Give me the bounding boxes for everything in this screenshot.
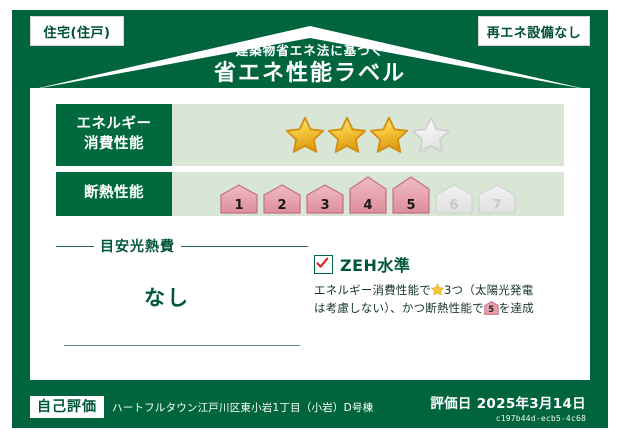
divider-left (56, 246, 94, 247)
row-insulation-value: 1234567 (172, 172, 564, 216)
insulation-level-number: 6 (435, 199, 473, 212)
insulation-level-number: 5 (392, 199, 430, 212)
insulation-level-2: 2 (263, 184, 301, 214)
divider-right (181, 246, 308, 247)
zeh-checkbox[interactable] (314, 255, 333, 274)
self-evaluation-badge: 自己評価 (30, 396, 104, 418)
zeh-desc-part3: は考慮しない）、かつ断熱性能で (314, 301, 484, 315)
zeh-desc-part1: エネルギー消費性能で (314, 283, 431, 297)
inline-house-number: 5 (484, 306, 499, 315)
zeh-header: ZEH水準 (314, 252, 564, 276)
utility-cost-header: 目安光熱費 (56, 236, 308, 256)
tag-building-type: 住宅(住戸) (30, 16, 124, 46)
evaluation-date: 評価日 2025年3月14日 (430, 396, 586, 412)
energy-performance-label: 住宅(住戸) 再エネ設備なし 建築物省エネ法に基づく 省エネ性能ラベル エネルギ… (0, 0, 620, 438)
insulation-level-number: 1 (220, 199, 258, 212)
evaluation-date-block: 評価日 2025年3月14日 c197b44d-ecb5-4c68 (430, 392, 590, 423)
performance-rows: エネルギー 消費性能 断熱性能 1234567 (56, 104, 564, 222)
tag-building-type-label: 住宅(住戸) (44, 22, 111, 41)
row-energy-label-line1: エネルギー (77, 115, 152, 135)
property-address: ハートフルタウン江戸川区東小岩1丁目（小岩）D号棟 (112, 400, 373, 415)
star-filled-icon (369, 115, 409, 155)
insulation-level-6: 6 (435, 184, 473, 214)
title-subtitle: 建築物省エネ法に基づく (0, 44, 620, 58)
insulation-level-number: 7 (478, 199, 516, 212)
label-footer: 自己評価 ハートフルタウン江戸川区東小岩1丁目（小岩）D号棟 評価日 2025年… (30, 390, 590, 424)
zeh-title: ZEH水準 (340, 252, 410, 276)
star-empty-icon (411, 115, 451, 155)
bottom-section: 目安光熱費 なし ZEH水準 エネルギー消費性能で 3つ（太陽光発電 (56, 232, 564, 358)
zeh-desc-part4: を達成 (499, 301, 534, 315)
check-icon (316, 257, 329, 270)
insulation-level-scale: 1234567 (220, 174, 516, 214)
row-energy-consumption: エネルギー 消費性能 (56, 104, 564, 166)
zeh-description: エネルギー消費性能で 3つ（太陽光発電 は考慮しない）、かつ断熱性能で 5 を達… (314, 282, 564, 318)
zeh-block: ZEH水準 エネルギー消費性能で 3つ（太陽光発電 は考慮しない）、かつ断熱性能… (308, 232, 564, 358)
row-energy-label: エネルギー 消費性能 (56, 104, 172, 166)
row-energy-value (172, 104, 564, 166)
star-filled-icon (285, 115, 325, 155)
row-energy-label-line2: 消費性能 (77, 135, 152, 155)
star-rating (285, 115, 451, 155)
zeh-desc-part2: 3つ（太陽光発電 (444, 283, 533, 297)
tag-renewable-energy: 再エネ設備なし (478, 16, 590, 46)
row-insulation: 断熱性能 1234567 (56, 172, 564, 216)
star-filled-icon (327, 115, 367, 155)
evaluation-date-label: 評価日 (430, 396, 471, 412)
inline-star-icon (431, 283, 444, 296)
row-insulation-label: 断熱性能 (56, 172, 172, 216)
utility-cost-value: なし (56, 282, 308, 312)
label-title-block: 建築物省エネ法に基づく 省エネ性能ラベル (0, 44, 620, 87)
insulation-level-1: 1 (220, 184, 258, 214)
insulation-level-number: 4 (349, 199, 387, 212)
insulation-level-7: 7 (478, 184, 516, 214)
evaluation-date-value: 2025年3月14日 (477, 396, 586, 412)
insulation-level-3: 3 (306, 184, 344, 214)
inline-house-badge: 5 (484, 301, 499, 315)
evaluation-hash: c197b44d-ecb5-4c68 (430, 414, 586, 423)
page-title: 省エネ性能ラベル (0, 60, 620, 88)
utility-cost-title: 目安光熱費 (100, 236, 175, 256)
insulation-level-5: 5 (392, 176, 430, 214)
insulation-level-4: 4 (349, 176, 387, 214)
tag-renewable-energy-label: 再エネ設備なし (487, 22, 582, 41)
utility-cost-underline (64, 345, 300, 346)
utility-cost-block: 目安光熱費 なし (56, 232, 308, 358)
insulation-level-number: 2 (263, 199, 301, 212)
insulation-level-number: 3 (306, 199, 344, 212)
row-insulation-label-text: 断熱性能 (84, 184, 144, 204)
